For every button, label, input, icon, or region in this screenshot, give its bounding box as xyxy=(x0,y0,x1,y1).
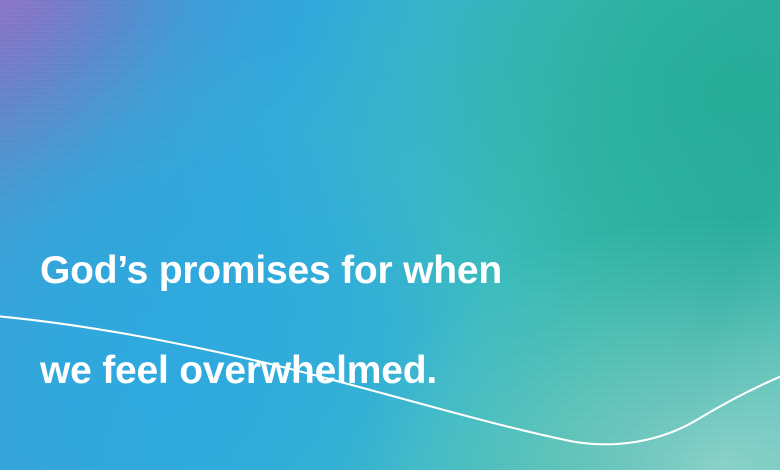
headline-line-2: we feel overwhelmed. xyxy=(40,346,502,396)
headline-line-1: God’s promises for when xyxy=(40,246,502,296)
gradient-banner: God’s promises for when we feel overwhel… xyxy=(0,0,780,470)
headline: God’s promises for when we feel overwhel… xyxy=(40,196,502,446)
